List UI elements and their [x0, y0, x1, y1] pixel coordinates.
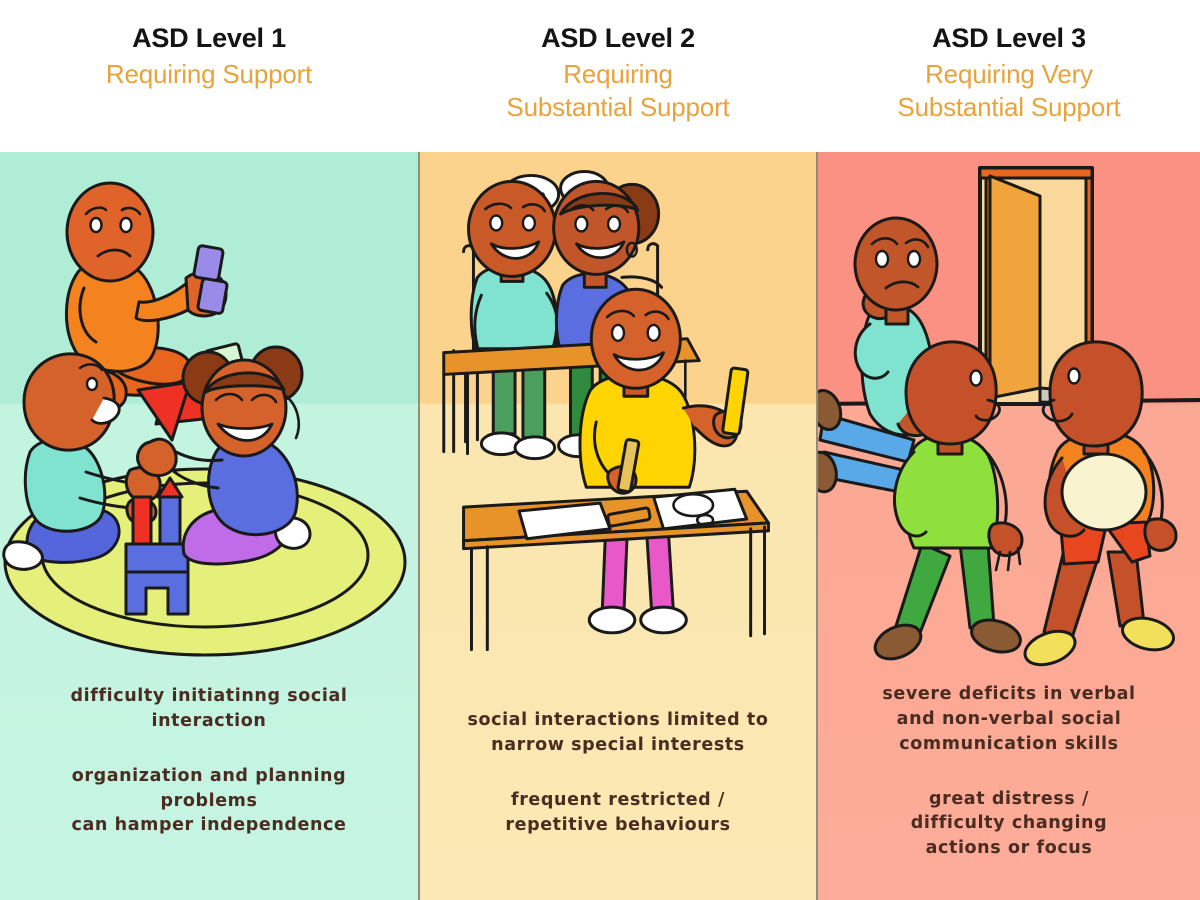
- caption-1-b: organization and planning problems can h…: [72, 764, 347, 839]
- ball: [1062, 454, 1146, 530]
- caption-3-b: great distress / difficulty changing act…: [911, 787, 1107, 862]
- captions-level-3: severe deficits in verbal and non-verbal…: [818, 682, 1200, 900]
- purple-block-lower: [197, 278, 227, 314]
- panel-level-2: social interactions limited to narrow sp…: [418, 152, 818, 900]
- level-1-subtitle: Requiring Support: [106, 58, 312, 91]
- level-1-title: ASD Level 1: [132, 22, 286, 56]
- scene-level-1: [0, 152, 418, 682]
- panel-level-3: severe deficits in verbal and non-verbal…: [818, 152, 1200, 900]
- orange-child-head: [1050, 342, 1142, 446]
- caption-1-a: difficulty initiatinng social interactio…: [71, 684, 348, 734]
- caption-2-b: frequent restricted / repetitive behavio…: [505, 788, 730, 838]
- scene-level-2: [420, 152, 816, 682]
- panel-level-1: difficulty initiatinng social interactio…: [0, 152, 418, 900]
- header-level-2: ASD Level 2 Requiring Substantial Suppor…: [418, 0, 818, 152]
- captions-level-1: difficulty initiatinng social interactio…: [0, 682, 418, 900]
- panels-row: difficulty initiatinng social interactio…: [0, 152, 1200, 900]
- figure-child-teal-shirt-talking: [469, 181, 558, 458]
- teal-talker-head: [469, 181, 556, 276]
- green-child-head: [906, 342, 996, 444]
- level-3-title: ASD Level 3: [932, 22, 1086, 56]
- header-level-1: ASD Level 1 Requiring Support: [0, 0, 418, 152]
- lone-child-head: [67, 183, 153, 281]
- figure-child-yellow-shirt-writing: [580, 289, 748, 633]
- header-row: ASD Level 1 Requiring Support ASD Level …: [0, 0, 1200, 152]
- level-2-subtitle: Requiring Substantial Support: [506, 58, 729, 125]
- purple-block-upper: [193, 245, 223, 281]
- scene-level-3: [818, 152, 1200, 682]
- asd-levels-infographic: ASD Level 1 Requiring Support ASD Level …: [0, 0, 1200, 900]
- captions-level-2: social interactions limited to narrow sp…: [420, 682, 816, 900]
- caption-3-a: severe deficits in verbal and non-verbal…: [882, 682, 1135, 757]
- header-level-3: ASD Level 3 Requiring Very Substantial S…: [818, 0, 1200, 152]
- red-triangle-block: [138, 382, 190, 440]
- yellow-pencil: [722, 368, 748, 435]
- yellow-child-head: [591, 289, 680, 388]
- caption-2-a: social interactions limited to narrow sp…: [467, 708, 768, 758]
- level-3-subtitle: Requiring Very Substantial Support: [897, 58, 1120, 125]
- worried-child-head: [855, 218, 937, 310]
- level-2-title: ASD Level 2: [541, 22, 695, 56]
- door-panel: [990, 176, 1040, 398]
